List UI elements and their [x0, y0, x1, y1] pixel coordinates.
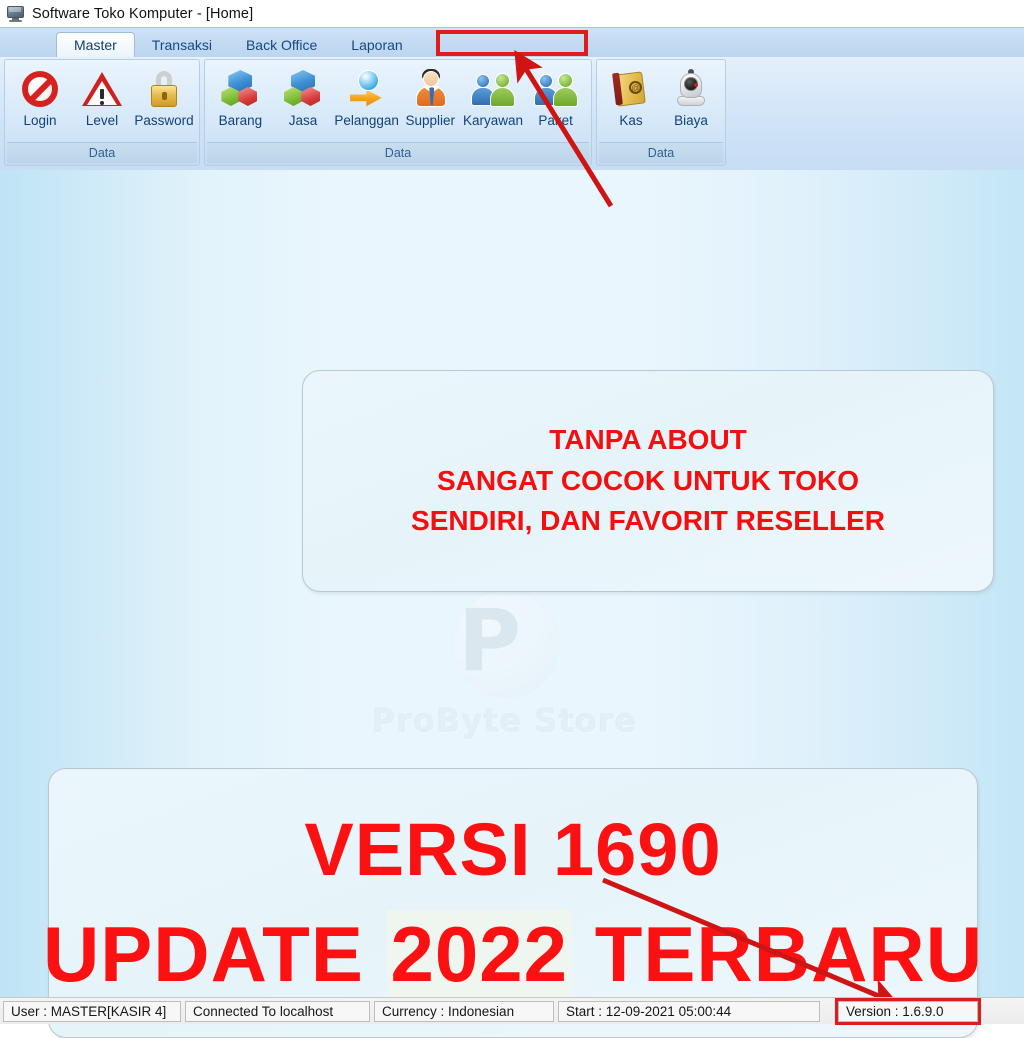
- ribbon-group-caption: Data: [7, 142, 197, 163]
- customer-arrow-icon: [345, 67, 389, 111]
- update-headline-after: TERBARU: [572, 910, 983, 998]
- warning-triangle-icon: [80, 67, 124, 111]
- ribbon-group-1: Login Level: [4, 59, 200, 166]
- ribbon-button-supplier[interactable]: Supplier: [399, 65, 462, 128]
- ribbon-button-barang[interactable]: Barang: [209, 65, 272, 128]
- tab-back-office[interactable]: Back Office: [229, 32, 334, 58]
- tab-master[interactable]: Master: [56, 32, 135, 58]
- ribbon-button-label: Password: [134, 113, 193, 128]
- ribbon-button-label: Login: [23, 113, 56, 128]
- callout-line-1: TANPA ABOUT: [549, 420, 747, 461]
- application-window: Software Toko Komputer - [Home] Master T…: [0, 0, 1024, 1024]
- update-headline-before: UPDATE: [43, 910, 387, 998]
- address-book-icon: @: [609, 67, 653, 111]
- probyte-logo-glyph: P: [458, 598, 511, 684]
- tab-list: Master Transaksi Back Office Laporan: [56, 28, 420, 58]
- status-version: Version : 1.6.9.0: [838, 1001, 978, 1022]
- forbidden-sign-icon: [18, 67, 62, 111]
- version-headline: VERSI 1690: [304, 813, 721, 887]
- ribbon-toolbar: Login Level: [0, 57, 1024, 171]
- status-currency: Currency : Indonesian: [374, 1001, 554, 1022]
- computer-monitor-icon: [6, 5, 26, 23]
- ribbon-button-login[interactable]: Login: [9, 65, 71, 128]
- ribbon-button-label: Paket: [538, 113, 573, 128]
- callout-box-top: TANPA ABOUT SANGAT COCOK UNTUK TOKO SEND…: [302, 370, 994, 592]
- padlock-icon: [142, 67, 186, 111]
- ribbon-button-kas[interactable]: @ Kas: [601, 65, 661, 128]
- ribbon-button-label: Pelanggan: [334, 113, 399, 128]
- ribbon-button-biaya[interactable]: Biaya: [661, 65, 721, 128]
- ribbon-button-label: Jasa: [289, 113, 318, 128]
- cubes-icon: [218, 67, 262, 111]
- window-title: Software Toko Komputer - [Home]: [32, 6, 253, 22]
- person-icon: [408, 67, 452, 111]
- probyte-store-watermark: P ProByte Store: [340, 590, 670, 765]
- status-start-time: Start : 12-09-2021 05:00:44: [558, 1001, 820, 1022]
- ribbon-button-label: Level: [86, 113, 118, 128]
- ribbon-button-label: Barang: [219, 113, 263, 128]
- ribbon-button-level[interactable]: Level: [71, 65, 133, 128]
- ribbon-button-paket[interactable]: Paket: [524, 65, 587, 128]
- two-people-icon: [471, 67, 515, 111]
- ribbon-group-caption: Data: [207, 142, 589, 163]
- status-bar: User : MASTER[KASIR 4] Connected To loca…: [0, 997, 1024, 1024]
- cubes-icon: [281, 67, 325, 111]
- callout-line-2: SANGAT COCOK UNTUK TOKO: [437, 461, 859, 502]
- ribbon-button-label: Kas: [619, 113, 642, 128]
- ribbon-group-caption: Data: [599, 142, 723, 163]
- title-bar: Software Toko Komputer - [Home]: [0, 0, 1024, 27]
- ribbon-group-3: @ Kas Biaya Data: [596, 59, 726, 166]
- ribbon-button-password[interactable]: Password: [133, 65, 195, 128]
- ribbon-button-label: Karyawan: [463, 113, 523, 128]
- callout-line-3: SENDIRI, DAN FAVORIT RESELLER: [411, 501, 885, 542]
- status-connection: Connected To localhost: [185, 1001, 370, 1022]
- ribbon-button-label: Supplier: [406, 113, 456, 128]
- watermark-text: ProByte Store: [340, 702, 670, 740]
- webcam-icon: [669, 67, 713, 111]
- ribbon-button-jasa[interactable]: Jasa: [272, 65, 335, 128]
- ribbon-button-pelanggan[interactable]: Pelanggan: [334, 65, 399, 128]
- ribbon-button-label: Biaya: [674, 113, 708, 128]
- ribbon-group-2: Barang Jasa Pelanggan: [204, 59, 592, 166]
- status-user: User : MASTER[KASIR 4]: [3, 1001, 181, 1022]
- update-headline-year: 2022: [387, 910, 573, 998]
- update-headline: UPDATE 2022 TERBARU: [43, 915, 983, 993]
- client-area: P ProByte Store TANPA ABOUT SANGAT COCOK…: [0, 170, 1024, 997]
- tab-transaksi[interactable]: Transaksi: [135, 32, 229, 58]
- tab-laporan[interactable]: Laporan: [334, 32, 419, 58]
- ribbon-button-karyawan[interactable]: Karyawan: [462, 65, 525, 128]
- missing-about-tab-highlight: [436, 30, 588, 56]
- two-people-icon: [534, 67, 578, 111]
